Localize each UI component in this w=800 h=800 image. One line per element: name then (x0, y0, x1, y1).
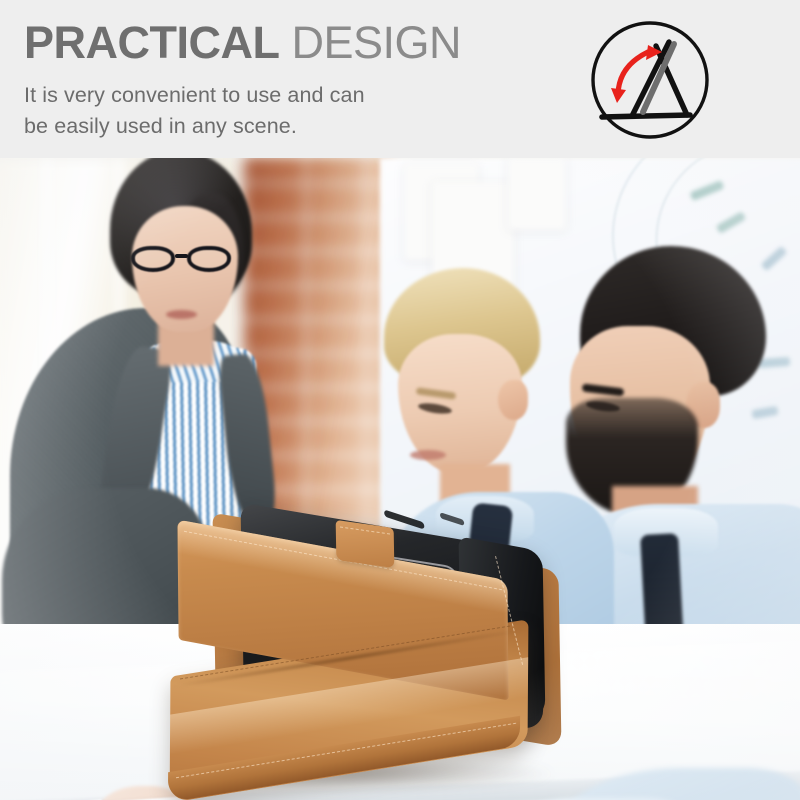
whiteboard-note (508, 158, 566, 230)
header-text-block: PRACTICAL DESIGN It is very convenient t… (24, 16, 564, 142)
adjustable-kickstand-icon (586, 16, 714, 144)
mouth (166, 310, 197, 319)
leather-wallet-phone-case (160, 536, 570, 800)
title-word-design: DESIGN (292, 17, 462, 68)
subtitle-line-1: It is very convenient to use and can (24, 80, 564, 111)
header-band: PRACTICAL DESIGN It is very convenient t… (0, 0, 800, 158)
product-banner: PRACTICAL DESIGN It is very convenient t… (0, 0, 800, 800)
eyeglasses (131, 246, 239, 274)
subtitle-line-2: be easily used in any scene. (24, 111, 564, 142)
lens-right (187, 246, 231, 272)
subtitle: It is very convenient to use and can be … (24, 80, 564, 142)
title-word-practical: PRACTICAL (24, 17, 279, 68)
mouth (410, 450, 446, 460)
stand-base-line (602, 115, 690, 117)
ear (498, 380, 528, 420)
page-title: PRACTICAL DESIGN (24, 16, 564, 70)
rotation-arrow-head-down (611, 88, 626, 103)
product-lifestyle-photo (0, 158, 800, 800)
lens-left (131, 246, 175, 272)
